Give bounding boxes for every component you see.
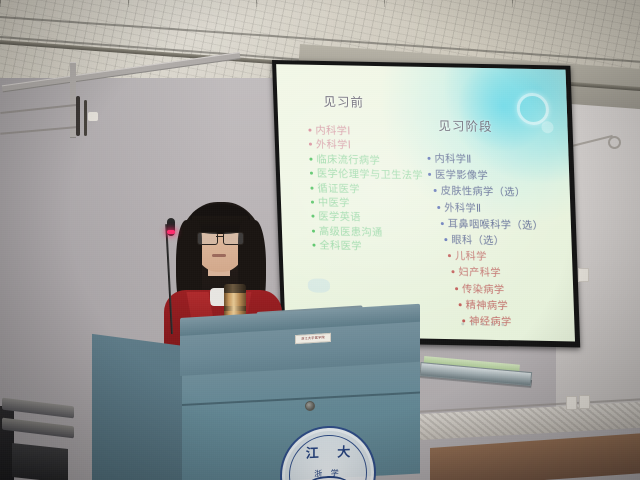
bullet-dot-icon	[309, 143, 312, 146]
podium-left-side	[92, 334, 184, 480]
list-item: 精神病学	[459, 301, 574, 313]
lectern-podium: 浙江大学医学院 江 大 浙 学	[92, 318, 422, 480]
bullet-dot-icon	[310, 186, 313, 189]
list-item: 眼科（选）	[444, 236, 571, 249]
list-item-label: 内科学Ⅰ	[315, 127, 351, 138]
list-item-label: 循证医学	[317, 184, 360, 195]
bullet-dot-icon	[441, 222, 444, 225]
footer-dot-icon	[481, 323, 484, 326]
list-item: 传染病学	[455, 285, 573, 297]
bullet-dot-icon	[444, 238, 447, 241]
list-item: 耳鼻咽喉科学（选）	[441, 220, 571, 233]
bullet-dot-icon	[309, 157, 312, 160]
list-item: 内科学Ⅰ	[308, 127, 449, 140]
list-item: 外科学Ⅱ	[437, 204, 570, 217]
footer-dot-icon	[491, 323, 494, 326]
bullet-dot-icon	[310, 172, 313, 175]
list-item-label: 临床流行病学	[316, 156, 380, 167]
podium-nameplate-text: 浙江大学医学院	[296, 334, 330, 343]
list-item: 儿科学	[448, 252, 572, 265]
list-item: 内科学Ⅱ	[427, 155, 568, 168]
podium-lock-icon[interactable]	[305, 401, 315, 411]
bullet-dot-icon	[312, 244, 315, 247]
list-item-label: 外科学Ⅱ	[444, 204, 482, 215]
lecture-hall-photo: 见习前 见习阶段 内科学Ⅰ 外科学Ⅰ 临床流行病学	[0, 0, 640, 480]
emblem-top-text: 江 大	[282, 440, 374, 462]
list-item-label: 精神病学	[466, 301, 509, 312]
list-item-label: 高级医患沟通	[319, 227, 383, 238]
bullet-dot-icon	[451, 271, 454, 274]
list-item-label: 妇产科学	[458, 269, 501, 280]
glasses-icon	[196, 232, 246, 243]
glasses-bridge	[216, 236, 223, 237]
thermos-lid[interactable]	[224, 284, 246, 293]
glasses-right-lens	[223, 232, 244, 245]
presentation-slide: 见习前 见习阶段 内科学Ⅰ 外科学Ⅰ 临床流行病学	[276, 64, 575, 341]
mouth	[212, 254, 226, 257]
bullet-dot-icon	[311, 215, 314, 218]
list-item-label: 医学影像学	[435, 171, 488, 182]
list-item-label: 眼科（选）	[451, 236, 504, 247]
wall-outlet	[578, 268, 589, 282]
hanging-cable-bundle	[84, 100, 87, 136]
bullet-dot-icon	[311, 201, 314, 204]
thermos-band	[224, 306, 246, 311]
bullet-dot-icon	[427, 157, 430, 160]
bullet-dot-icon	[434, 189, 437, 192]
footer-dot-icon	[471, 322, 474, 325]
slide-column-right: 内科学Ⅱ 医学影像学 皮肤性病学（选） 外科学Ⅱ	[427, 155, 573, 336]
bullet-dot-icon	[312, 229, 315, 232]
list-item: 医学影像学	[428, 171, 569, 184]
list-item-label: 内科学Ⅱ	[434, 155, 472, 166]
bullet-dot-icon	[437, 206, 440, 209]
bullet-dot-icon	[308, 129, 311, 132]
cord-loop	[608, 136, 621, 149]
side-bench	[0, 400, 80, 480]
projection-screen: 见习前 见习阶段 内科学Ⅰ 外科学Ⅰ 临床流行病学	[272, 60, 580, 348]
list-item: 外科学Ⅰ	[309, 141, 450, 154]
bullet-dot-icon	[455, 287, 458, 290]
list-item-label: 医学伦理学与卫生法学	[317, 170, 423, 182]
bullet-dot-icon	[448, 254, 451, 257]
list-item-label: 全科医学	[319, 242, 362, 253]
list-item-label: 皮肤性病学（选）	[441, 187, 526, 199]
list-item: 妇产科学	[451, 269, 572, 282]
list-item-label: 耳鼻咽喉科学（选）	[448, 220, 544, 232]
list-item-label: 外科学Ⅰ	[316, 141, 352, 152]
bench-base	[12, 443, 68, 480]
list-item: 皮肤性病学（选）	[434, 187, 570, 200]
footer-dot-icon	[461, 322, 464, 325]
glasses-left-lens	[197, 232, 218, 245]
microphone-indicator-light	[167, 230, 175, 234]
slide-heading-left: 见习前	[323, 91, 364, 111]
list-item-label: 中医学	[318, 199, 350, 210]
hanging-cable-bundle	[76, 96, 80, 136]
bullet-dot-icon	[428, 173, 431, 176]
wall-outlet	[579, 395, 590, 409]
footer-dot-icon	[501, 323, 504, 326]
screen-surface: 见习前 见习阶段 内科学Ⅰ 外科学Ⅰ 临床流行病学	[276, 64, 575, 341]
wall-outlet	[566, 396, 577, 410]
list-item-label: 传染病学	[462, 285, 505, 296]
list-item-label: 医学英语	[318, 213, 361, 224]
list-item-label: 儿科学	[455, 252, 487, 263]
cable-junction-box	[88, 112, 98, 121]
bullet-dot-icon	[459, 303, 462, 306]
